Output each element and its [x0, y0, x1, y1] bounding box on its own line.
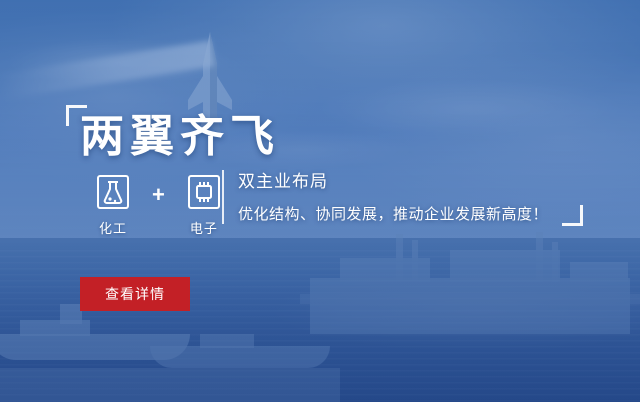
subtitle-group: 双主业布局 优化结构、协同发展，推动企业发展新高度！ — [238, 170, 548, 226]
view-details-button[interactable]: 查看详情 — [80, 277, 190, 311]
plus-separator: + — [152, 182, 165, 208]
industry-electronics-label: 电子 — [190, 218, 218, 237]
industry-chemical-label: 化工 — [99, 218, 127, 237]
headline: 两翼齐飞 — [80, 112, 280, 162]
banner-content: 两翼齐飞 化工 + — [0, 0, 640, 402]
sub-description: 优化结构、协同发展，推动企业发展新高度！ — [238, 204, 548, 226]
sub-title: 双主业布局 — [238, 170, 548, 194]
industry-chemical: 化工 — [84, 172, 142, 237]
electronics-chip-icon — [181, 172, 227, 212]
industry-electronics: 电子 — [175, 172, 233, 237]
vertical-divider — [222, 170, 224, 224]
chemical-flask-icon — [90, 172, 136, 212]
bracket-bottom-right — [562, 205, 583, 226]
industry-icon-group: 化工 + — [84, 172, 233, 237]
promo-banner: 两翼齐飞 化工 + — [0, 0, 640, 402]
